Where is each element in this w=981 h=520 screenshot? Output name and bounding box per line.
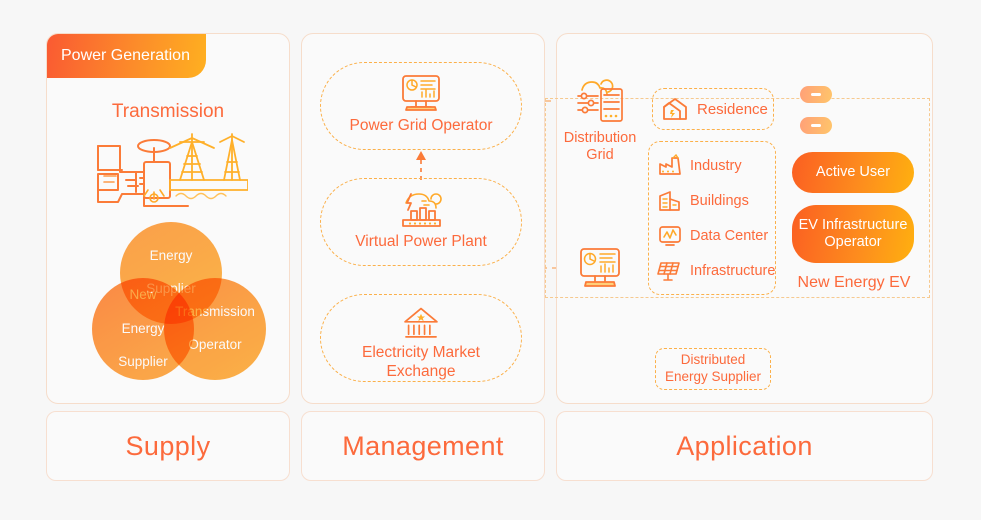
ev-charger-pill-icon-2 bbox=[800, 117, 832, 134]
pill-ev-line2: Operator bbox=[824, 234, 881, 250]
capsule-power-grid-operator[interactable]: Power Grid Operator bbox=[320, 62, 522, 150]
venn-a-line1: Energy bbox=[146, 248, 196, 265]
transmission-title: Transmission bbox=[46, 101, 290, 123]
app-item-data-center-label: Data Center bbox=[690, 228, 768, 244]
app-item-buildings-label: Buildings bbox=[690, 193, 749, 209]
cloud-server-grid-icon bbox=[574, 76, 626, 124]
monitor-analytics-icon-lower bbox=[576, 246, 624, 290]
pill-ev-infrastructure-operator[interactable]: EV Infrastructure Operator bbox=[792, 205, 914, 263]
footer-application[interactable]: Application bbox=[556, 411, 933, 481]
power-generation-tab[interactable]: Power Generation bbox=[47, 34, 206, 78]
capsule-grid-label: Power Grid Operator bbox=[340, 117, 503, 135]
venn-b-line1: New bbox=[118, 287, 168, 304]
app-item-infrastructure[interactable]: Infrastructure bbox=[657, 253, 775, 288]
distribution-grid-line2: Grid bbox=[586, 147, 613, 163]
footer-management-label: Management bbox=[342, 431, 504, 462]
pill-active-user-label: Active User bbox=[816, 164, 890, 181]
ev-charger-pill-icon-1 bbox=[800, 86, 832, 103]
bank-building-icon bbox=[398, 305, 444, 340]
footer-application-label: Application bbox=[676, 431, 813, 462]
factory-icon bbox=[657, 154, 683, 178]
power-plant-icon bbox=[398, 189, 444, 229]
footer-management[interactable]: Management bbox=[301, 411, 545, 481]
house-icon bbox=[661, 96, 689, 122]
footer-supply-label: Supply bbox=[126, 431, 211, 462]
residence-label: Residence bbox=[697, 101, 768, 118]
capsule-market-line1: Electricity Market bbox=[362, 344, 480, 361]
pill-active-user[interactable]: Active User bbox=[792, 152, 914, 193]
distribution-grid-line1: Distribution bbox=[564, 130, 637, 146]
box-distributed-energy-supplier[interactable]: Distributed Energy Supplier bbox=[655, 348, 771, 390]
venn-b-line2: Energy bbox=[118, 321, 168, 338]
venn-c-line2: Operator bbox=[175, 337, 255, 354]
capsule-market-line2: Exchange bbox=[387, 363, 456, 380]
capsule-virtual-power-plant[interactable]: Virtual Power Plant bbox=[320, 178, 522, 266]
monitor-analytics-icon bbox=[398, 73, 444, 113]
app-item-infrastructure-label: Infrastructure bbox=[690, 263, 775, 279]
pill-ev-line1: EV Infrastructure bbox=[799, 217, 908, 233]
app-item-industry[interactable]: Industry bbox=[657, 148, 775, 183]
venn-transmission-operator[interactable]: Transmission Operator bbox=[164, 278, 266, 380]
hydro-dam-transmission-tower-icon bbox=[92, 128, 248, 212]
app-item-buildings[interactable]: Buildings bbox=[657, 183, 775, 218]
box-application-group: Industry Buildings Data Cente bbox=[648, 141, 776, 295]
box-residence[interactable]: Residence bbox=[652, 88, 774, 130]
distribution-grid-label: Distribution Grid bbox=[548, 130, 652, 165]
capsule-electricity-market-exchange[interactable]: Electricity Market Exchange bbox=[320, 294, 522, 382]
app-item-industry-label: Industry bbox=[690, 158, 742, 174]
app-item-data-center[interactable]: Data Center bbox=[657, 218, 775, 253]
venn-c-line1: Transmission bbox=[175, 304, 255, 321]
power-generation-label: Power Generation bbox=[61, 47, 190, 65]
venn-b-line3: Supplier bbox=[118, 354, 168, 371]
solar-panel-icon bbox=[657, 259, 683, 283]
diagram-canvas: Power Generation Transmission bbox=[0, 0, 981, 520]
capsule-vpp-label: Virtual Power Plant bbox=[345, 233, 497, 251]
arrow-vpp-to-grid-operator bbox=[414, 150, 428, 180]
footer-supply[interactable]: Supply bbox=[46, 411, 290, 481]
des-line1: Distributed bbox=[681, 352, 746, 367]
new-energy-ev-label: New Energy EV bbox=[780, 274, 928, 292]
office-building-icon bbox=[657, 189, 683, 213]
data-monitor-icon bbox=[657, 224, 683, 248]
des-line2: Energy Supplier bbox=[665, 369, 761, 384]
